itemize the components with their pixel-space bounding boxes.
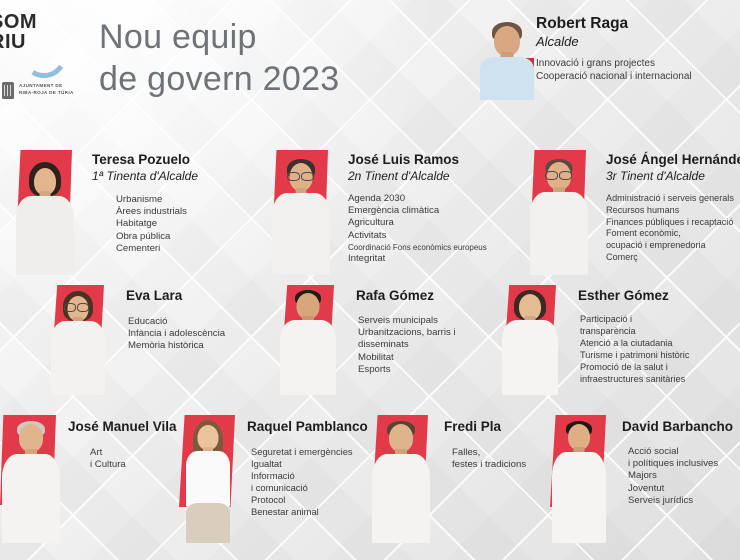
portfolio-item: Àrees industrials — [116, 206, 198, 218]
portfolio-list: Falles, festes i tradicions — [452, 447, 526, 471]
person-info: Raquel Pamblanco Seguretat i emergències… — [247, 418, 368, 519]
avatar — [270, 150, 332, 275]
portfolio-item: Serveis municipals — [358, 315, 456, 327]
portfolio-item: Emergència climàtica — [348, 205, 487, 217]
avatar — [14, 150, 76, 275]
portfolio-list: Acció social i polítiques inclusives Maj… — [628, 446, 733, 507]
portfolio-item: Infància i adolescència — [128, 328, 225, 340]
person-info: Eva Lara Educació Infància i adolescènci… — [126, 287, 225, 353]
glasses-icon — [559, 171, 572, 180]
portfolio-item: Memòria històrica — [128, 340, 225, 352]
page-title-line-1: Nou equip — [99, 16, 340, 58]
person-name: Rafa Gómez — [356, 287, 456, 304]
portfolio-item: Falles, — [452, 447, 526, 459]
portfolio-item: Educació — [128, 316, 225, 328]
person-name: José Ángel Hernández — [606, 151, 740, 168]
person-info: Teresa Pozuelo 1ª Tinenta d'Alcalde Urba… — [92, 151, 198, 255]
person-role: 3r Tinent d'Alcalde — [606, 168, 740, 184]
person-card-esther-gomez: Esther Gómez Participació i transparènci… — [500, 285, 740, 397]
portrait-figure — [548, 415, 610, 543]
person-name: Esther Gómez — [578, 287, 689, 304]
avatar — [500, 285, 560, 395]
portfolio-item: transparència — [580, 326, 689, 338]
portrait-figure — [480, 14, 534, 100]
portfolio-item: festes i tradicions — [452, 459, 526, 471]
person-card-mayor: Robert Raga Alcalde Innovació i grans pr… — [480, 14, 740, 112]
avatar — [177, 415, 239, 543]
person-name: José Manuel Vila — [68, 418, 177, 435]
portfolio-item: disseminats — [358, 339, 456, 351]
person-name: David Barbancho — [622, 418, 733, 435]
portfolio-item: i comunicació — [251, 482, 368, 494]
person-card-david-barbancho: David Barbancho Acció social i polítique… — [548, 415, 740, 545]
person-role: 1ª Tinenta d'Alcalde — [92, 168, 198, 184]
person-card-teresa-pozuelo: Teresa Pozuelo 1ª Tinenta d'Alcalde Urba… — [14, 150, 254, 278]
portrait-figure — [48, 285, 108, 395]
person-card-jose-manuel-vila: José Manuel Vila Art i Cultura — [0, 415, 200, 545]
smile-swoosh-icon — [19, 38, 71, 83]
person-card-jose-angel-hernandez: José Ángel Hernández 3r Tinent d'Alcalde… — [528, 150, 740, 278]
portfolio-item: ocupació i emprenedoria — [606, 240, 740, 252]
page-title: Nou equip de govern 2023 — [99, 16, 340, 100]
glasses-icon — [545, 171, 558, 180]
portfolio-item: Foment econòmic, — [606, 228, 740, 240]
portfolio-item: Urbanitzacions, barris i — [358, 327, 456, 339]
person-info: José Luis Ramos 2n Tinent d'Alcalde Agen… — [348, 151, 487, 265]
portfolio-item: Agenda 2030 — [348, 193, 487, 205]
portfolio-item: Recursos humans — [606, 205, 740, 217]
portfolio-list: Seguretat i emergències Igualtat Informa… — [251, 446, 368, 519]
portfolio-list: Serveis municipals Urbanitzacions, barri… — [358, 315, 456, 376]
portfolio-item: Art — [90, 447, 177, 459]
portfolio-item: i polítiques inclusives — [628, 458, 733, 470]
person-card-eva-lara: Eva Lara Educació Infància i adolescènci… — [48, 285, 268, 397]
person-name: Raquel Pamblanco — [247, 418, 368, 435]
person-name: Eva Lara — [126, 287, 225, 304]
avatar — [278, 285, 338, 395]
portfolio-item: Benestar animal — [251, 506, 368, 518]
portfolio-item: Protocol — [251, 494, 368, 506]
portfolio-item: Acció social — [628, 446, 733, 458]
portrait-figure — [0, 415, 62, 543]
portfolio-item: Serveis jurídics — [628, 495, 733, 507]
portrait-figure — [500, 285, 560, 395]
portfolio-item: Atenció a la ciutadania — [580, 338, 689, 350]
avatar — [0, 415, 62, 543]
portrait-figure — [177, 415, 239, 543]
portfolio-item: infraestructures sanitàries — [580, 374, 689, 386]
portfolio-list: Administració i serveis generals Recurso… — [606, 193, 740, 264]
portfolio-item: i Cultura — [90, 459, 177, 471]
portrait-figure — [278, 285, 338, 395]
portfolio-item: Mobilitat — [358, 352, 456, 364]
person-role: Alcalde — [536, 33, 692, 50]
portfolio-item: Informació — [251, 470, 368, 482]
person-role: 2n Tinent d'Alcalde — [348, 168, 487, 184]
portfolio-list: Innovació i grans projectes Cooperació n… — [536, 58, 692, 83]
institution-line-1: AJUNTAMENT DE — [19, 83, 63, 88]
person-info: Rafa Gómez Serveis municipals Urbanitzac… — [356, 287, 456, 376]
person-name: José Luis Ramos — [348, 151, 487, 168]
portfolio-list: Agenda 2030 Emergència climàtica Agricul… — [348, 193, 487, 265]
person-info: Fredi Pla Falles, festes i tradicions — [444, 418, 526, 471]
portfolio-item: Joventut — [628, 483, 733, 495]
portrait-figure — [270, 150, 332, 275]
avatar — [548, 415, 610, 543]
portfolio-item: Finances públiques i recaptació — [606, 217, 740, 229]
portfolio-item: Seguretat i emergències — [251, 446, 368, 458]
town-crest-icon — [2, 82, 14, 99]
portfolio-list: Participació i transparència Atenció a l… — [580, 314, 689, 385]
person-info: José Manuel Vila Art i Cultura — [68, 418, 177, 471]
person-name: Teresa Pozuelo — [92, 151, 198, 168]
portfolio-item: Cooperació nacional i internacional — [536, 71, 692, 84]
person-info: David Barbancho Acció social i polítique… — [622, 418, 733, 507]
person-info: Robert Raga Alcalde Innovació i grans pr… — [536, 14, 692, 83]
person-info: José Ángel Hernández 3r Tinent d'Alcalde… — [606, 151, 740, 264]
portfolio-item: Agricultura — [348, 217, 487, 229]
portfolio-item: Urbanisme — [116, 194, 198, 206]
person-name: Fredi Pla — [444, 418, 526, 435]
person-card-rafa-gomez: Rafa Gómez Serveis municipals Urbanitzac… — [278, 285, 498, 397]
portfolio-item: Cementeri — [116, 243, 198, 255]
portfolio-item: Integritat — [348, 253, 487, 265]
person-card-fredi-pla: Fredi Pla Falles, festes i tradicions — [370, 415, 570, 545]
glasses-icon — [77, 303, 89, 312]
portfolio-item: Participació i — [580, 314, 689, 326]
portfolio-list: Educació Infància i adolescència Memòria… — [128, 316, 225, 353]
portfolio-list: Urbanisme Àrees industrials Habitatge Ob… — [116, 194, 198, 255]
glasses-icon — [64, 303, 76, 312]
glasses-icon — [301, 172, 314, 181]
glasses-icon — [287, 172, 300, 181]
portfolio-item: Administració i serveis generals — [606, 193, 740, 205]
portfolio-item: Innovació i grans projectes — [536, 58, 692, 71]
portrait-figure — [14, 150, 76, 275]
avatar — [370, 415, 432, 543]
portfolio-item: Promoció de la salut i — [580, 362, 689, 374]
avatar — [480, 14, 534, 100]
logo-line-som: SOM — [0, 12, 37, 32]
person-card-jose-luis-ramos: José Luis Ramos 2n Tinent d'Alcalde Agen… — [270, 150, 510, 278]
poster-canvas: SOM RIU AJUNTAMENT DE RIBA-ROJA DE TÚRIA… — [0, 0, 740, 560]
avatar — [48, 285, 108, 395]
portfolio-list: Art i Cultura — [90, 447, 177, 471]
person-info: Esther Gómez Participació i transparènci… — [578, 287, 689, 385]
portfolio-item: Comerç — [606, 252, 740, 264]
portfolio-item: Esports — [358, 364, 456, 376]
portfolio-item: Majors — [628, 470, 733, 482]
person-name: Robert Raga — [536, 14, 692, 33]
portrait-figure — [528, 150, 590, 275]
portfolio-item: Igualtat — [251, 458, 368, 470]
portfolio-item: Habitatge — [116, 218, 198, 230]
portfolio-item: Obra pública — [116, 231, 198, 243]
som-riu-logo: SOM RIU AJUNTAMENT DE RIBA-ROJA DE TÚRIA — [0, 8, 78, 104]
portfolio-item: Turisme i patrimoni històric — [580, 350, 689, 362]
portfolio-item: Coordinació Fons econòmics europeus — [348, 242, 487, 253]
institution-line-2: RIBA-ROJA DE TÚRIA — [19, 90, 74, 95]
page-title-line-2: de govern 2023 — [99, 58, 340, 100]
portrait-figure — [370, 415, 432, 543]
portfolio-item: Activitats — [348, 230, 487, 242]
avatar — [528, 150, 590, 275]
